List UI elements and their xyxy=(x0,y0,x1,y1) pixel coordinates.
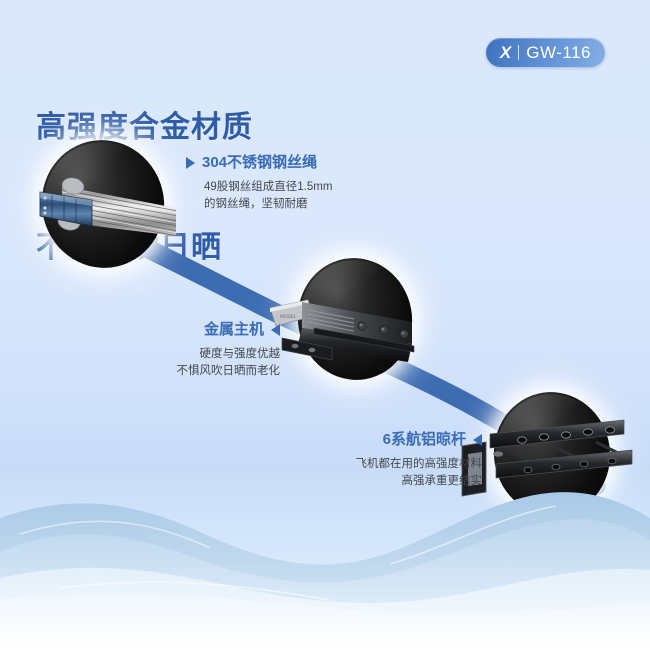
product-image-metal-host: MODEL xyxy=(262,282,437,378)
feature-callout-wire-rope: 304不锈钢钢丝绳 49股钢丝组成直径1.5mm 的钢丝绳，坚韧耐磨 xyxy=(186,153,332,213)
feature-heading-text: 304不锈钢钢丝绳 xyxy=(202,153,317,173)
feature-callout-metal-host: 金属主机 硬度与强度优越 不惧风吹日晒而老化 xyxy=(108,320,280,380)
triangle-left-icon xyxy=(473,434,482,446)
feature-description-wire-rope: 49股钢丝组成直径1.5mm 的钢丝绳，坚韧耐磨 xyxy=(186,179,332,213)
product-feature-poster: 高强度合金材质 不惧风吹日晒 X GW-116 xyxy=(0,0,650,650)
feature-heading-text: 金属主机 xyxy=(204,320,264,340)
feature-heading-wire-rope: 304不锈钢钢丝绳 xyxy=(186,153,332,173)
feature-heading-alu-pole: 6系航铝晾杆 xyxy=(296,430,482,450)
feature-heading-text: 6系航铝晾杆 xyxy=(383,430,466,450)
feature-heading-metal-host: 金属主机 xyxy=(108,320,280,340)
bottom-wave-decoration xyxy=(0,460,650,650)
svg-text:MODEL: MODEL xyxy=(280,314,297,320)
product-image-steel-wire-rope xyxy=(26,150,194,270)
triangle-right-icon xyxy=(186,157,195,169)
feature-description-metal-host: 硬度与强度优越 不惧风吹日晒而老化 xyxy=(108,346,280,380)
triangle-left-icon xyxy=(271,324,280,336)
